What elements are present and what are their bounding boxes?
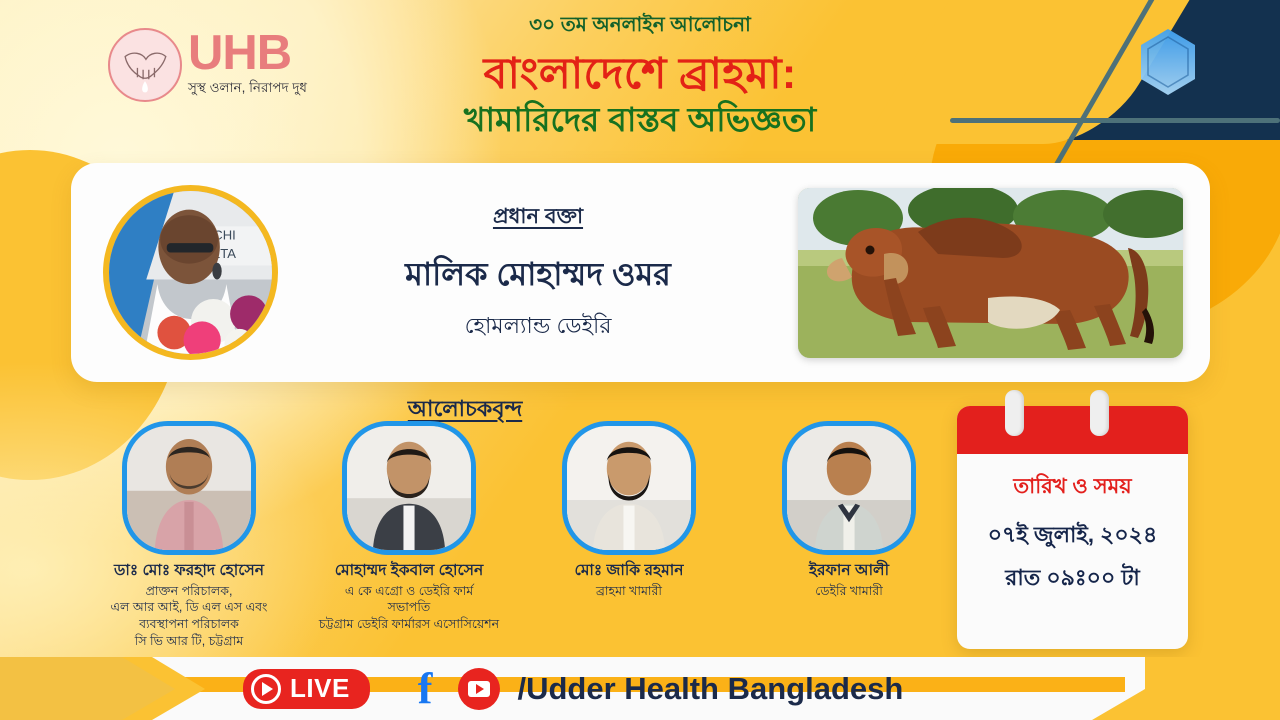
list-item: মোহাম্মদ ইকবাল হোসেন এ কে এগ্রো ও ডেইরি …	[304, 421, 514, 633]
facebook-icon[interactable]: f	[418, 669, 433, 709]
panelist-photo	[782, 421, 916, 555]
chief-speaker-details: প্রধান বক্তা মালিক মোহাম্মদ ওমর হোমল্যান…	[278, 200, 798, 346]
panelist-photo	[122, 421, 256, 555]
calendar-ring-left	[1005, 390, 1024, 436]
page-title: বাংলাদেশে ব্রাহমা:	[0, 50, 1280, 98]
panelist-affiliation: এ কে এগ্রো ও ডেইরি ফার্ম সভাপতি চট্টগ্রা…	[304, 583, 514, 634]
footer-bar: LIVE f /Udder Health Bangladesh	[0, 657, 1280, 720]
live-label: LIVE	[290, 673, 350, 704]
panelist-photo	[562, 421, 696, 555]
chief-speaker-role: প্রধান বক্তা	[284, 200, 792, 235]
panelist-name: ইরফান আলী	[744, 562, 954, 581]
social-handle[interactable]: /Udder Health Bangladesh	[517, 671, 903, 707]
calendar-ring-right	[1090, 390, 1109, 436]
live-badge[interactable]: LIVE	[243, 669, 370, 709]
webinar-poster: UHB সুস্থ ওলান, নিরাপদ দুধ ৩০ তম অনলাইন …	[0, 0, 1280, 720]
panelist-name: মোঃ জাকি রহমান	[524, 562, 734, 581]
list-item: ডাঃ মোঃ ফরহাদ হোসেন প্রাক্তন পরিচালক, এল…	[84, 421, 294, 650]
chief-speaker-name: মালিক মোহাম্মদ ওমর	[284, 249, 792, 303]
headline-block: ৩০ তম অনলাইন আলোচনা বাংলাদেশে ব্রাহমা: খ…	[0, 10, 1280, 139]
panelist-affiliation: ব্রাহমা খামারী	[524, 583, 734, 600]
panelist-photo	[342, 421, 476, 555]
chief-speaker-organization: হোমল্যান্ড ডেইরি	[284, 309, 792, 346]
brahman-bull-photo	[798, 188, 1183, 358]
panelist-affiliation: ডেইরি খামারী	[744, 583, 954, 600]
event-kicker: ৩০ তম অনলাইন আলোচনা	[0, 10, 1280, 43]
page-subtitle: খামারিদের বাস্তব অভিজ্ঞতা	[0, 101, 1280, 139]
schedule-date: ০৭ই জুলাই, ২০২৪	[957, 518, 1188, 555]
panelist-list: ডাঃ মোঃ ফরহাদ হোসেন প্রাক্তন পরিচালক, এল…	[84, 421, 954, 650]
panelist-affiliation: প্রাক্তন পরিচালক, এল আর আই, ডি এল এস এবং…	[84, 583, 294, 651]
chief-speaker-card: CHI RETA প্রধান বক্তা মালিক মোহাম্মদ ওমর…	[71, 163, 1210, 382]
panelist-name: মোহাম্মদ ইকবাল হোসেন	[304, 562, 514, 581]
list-item: মোঃ জাকি রহমান ব্রাহমা খামারী	[524, 421, 734, 599]
schedule-card: তারিখ ও সময় ০৭ই জুলাই, ২০২৪ রাত ০৯ঃ০০ ট…	[957, 406, 1188, 649]
schedule-title: তারিখ ও সময়	[957, 470, 1188, 505]
list-item: ইরফান আলী ডেইরি খামারী	[744, 421, 954, 599]
youtube-icon[interactable]	[458, 668, 500, 710]
chief-speaker-photo: CHI RETA	[103, 185, 278, 360]
panelist-name: ডাঃ মোঃ ফরহাদ হোসেন	[84, 562, 294, 581]
calendar-header-strip	[957, 406, 1188, 454]
play-circle-icon	[251, 674, 281, 704]
schedule-time: রাত ০৯ঃ০০ টা	[957, 561, 1188, 598]
